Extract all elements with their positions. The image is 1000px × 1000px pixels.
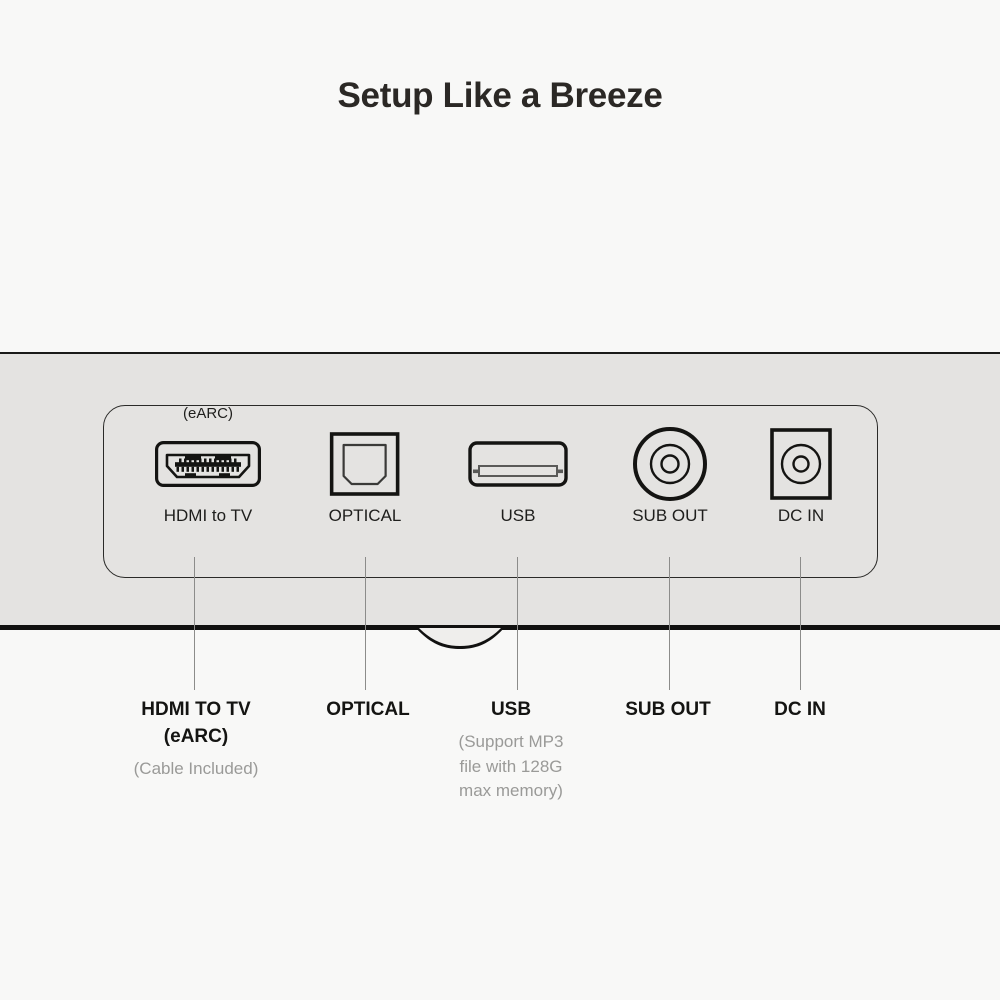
caption-hdmi-line-2: (eARC) bbox=[56, 724, 336, 751]
port-hdmi-label: HDMI to TV bbox=[155, 506, 261, 526]
leader-line-sub-out bbox=[669, 557, 671, 690]
port-sub-out-sublabel bbox=[632, 406, 708, 422]
port-optical[interactable]: OPTICAL bbox=[329, 406, 402, 526]
port-usb-sublabel bbox=[468, 406, 568, 422]
leader-line-hdmi bbox=[194, 557, 196, 690]
caption-usb-note-line-1: (Support MP3 bbox=[421, 730, 601, 755]
usb-a-port-icon bbox=[468, 428, 568, 500]
port-dc-in-label: DC IN bbox=[770, 506, 832, 526]
port-hdmi[interactable]: (eARC) bbox=[155, 406, 261, 526]
optical-toslink-port-icon bbox=[329, 428, 402, 500]
port-panel: (eARC) bbox=[103, 405, 878, 578]
port-hdmi-sublabel: (eARC) bbox=[155, 406, 261, 422]
caption-usb-note: (Support MP3 file with 128G max memory) bbox=[421, 730, 601, 804]
caption-usb-note-line-2: file with 128G bbox=[421, 755, 601, 780]
caption-dc-in: DC IN bbox=[710, 697, 890, 724]
leader-line-usb bbox=[517, 557, 519, 690]
port-sub-out-label: SUB OUT bbox=[632, 506, 708, 526]
port-usb[interactable]: USB bbox=[468, 406, 568, 526]
port-optical-sublabel bbox=[329, 406, 402, 422]
caption-hdmi-note-1: (Cable Included) bbox=[56, 757, 336, 782]
port-optical-label: OPTICAL bbox=[329, 506, 402, 526]
caption-usb-note-line-3: max memory) bbox=[421, 779, 601, 804]
caption-dc-in-line-1: DC IN bbox=[710, 697, 890, 724]
leader-line-optical bbox=[365, 557, 367, 690]
port-sub-out[interactable]: SUB OUT bbox=[632, 406, 708, 526]
dc-power-jack-icon bbox=[770, 428, 832, 500]
page-title: Setup Like a Breeze bbox=[0, 76, 1000, 116]
port-usb-label: USB bbox=[468, 506, 568, 526]
hdmi-port-icon bbox=[155, 428, 261, 500]
port-dc-in[interactable]: DC IN bbox=[770, 406, 832, 526]
leader-line-dc-in bbox=[800, 557, 802, 690]
port-dc-in-sublabel bbox=[770, 406, 832, 422]
rca-subwoofer-jack-icon bbox=[632, 428, 708, 500]
